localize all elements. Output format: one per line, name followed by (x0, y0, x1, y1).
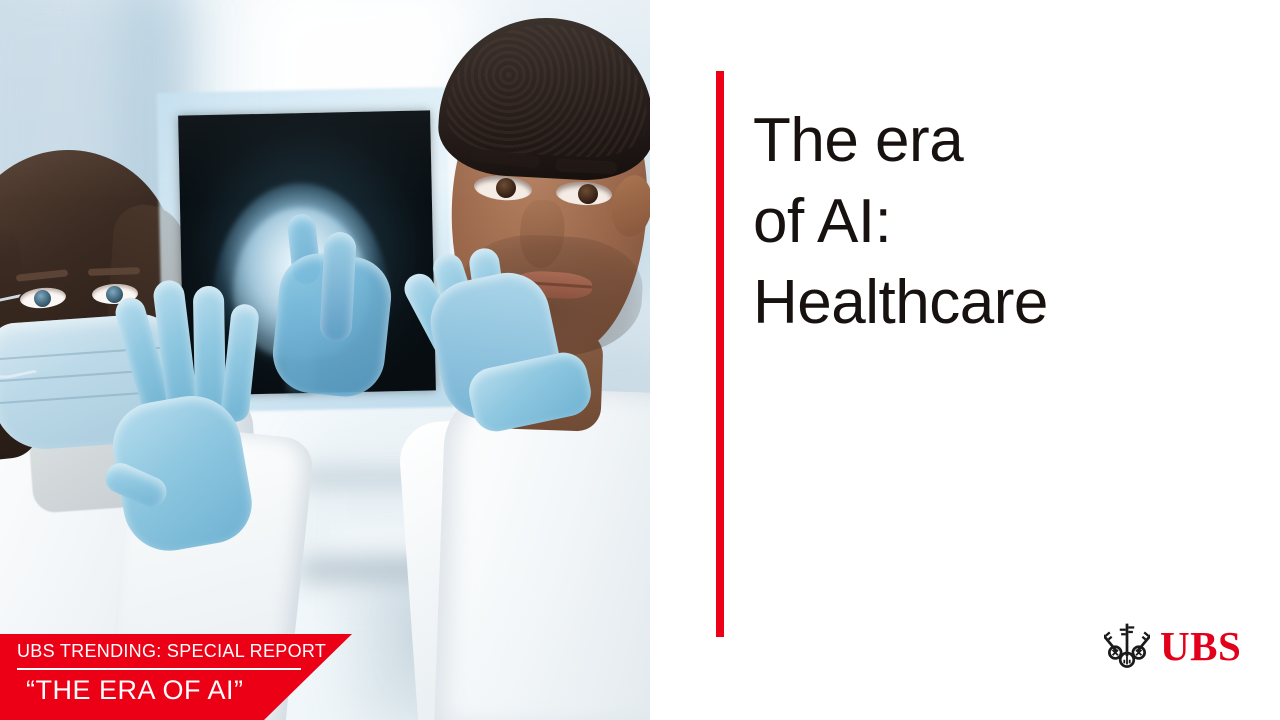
female-clinician-iris (34, 290, 51, 307)
male-clinician-lab-coat (434, 386, 650, 720)
male-clinician-iris (496, 178, 516, 198)
banner-headline-text: “THE ERA OF AI” (26, 675, 244, 706)
red-accent-bar (716, 71, 724, 637)
male-clinician-iris (578, 184, 598, 204)
ubs-logo: UBS (1104, 618, 1252, 674)
slide-root: UBS TRENDING: SPECIAL REPORT “THE ERA OF… (0, 0, 1280, 720)
banner-divider (17, 668, 301, 670)
hero-photo (0, 0, 650, 720)
banner-eyebrow-text: UBS TRENDING: SPECIAL REPORT (17, 641, 326, 662)
page-title-line-2: of AI: (753, 181, 1233, 262)
page-title: The era of AI: Healthcare (753, 100, 1233, 343)
page-title-line-1: The era (753, 100, 1233, 181)
three-keys-icon (1104, 620, 1150, 672)
page-title-line-3: Healthcare (753, 262, 1233, 343)
blue-glove-pointing-finger (319, 231, 357, 343)
ubs-wordmark: UBS (1160, 626, 1241, 667)
